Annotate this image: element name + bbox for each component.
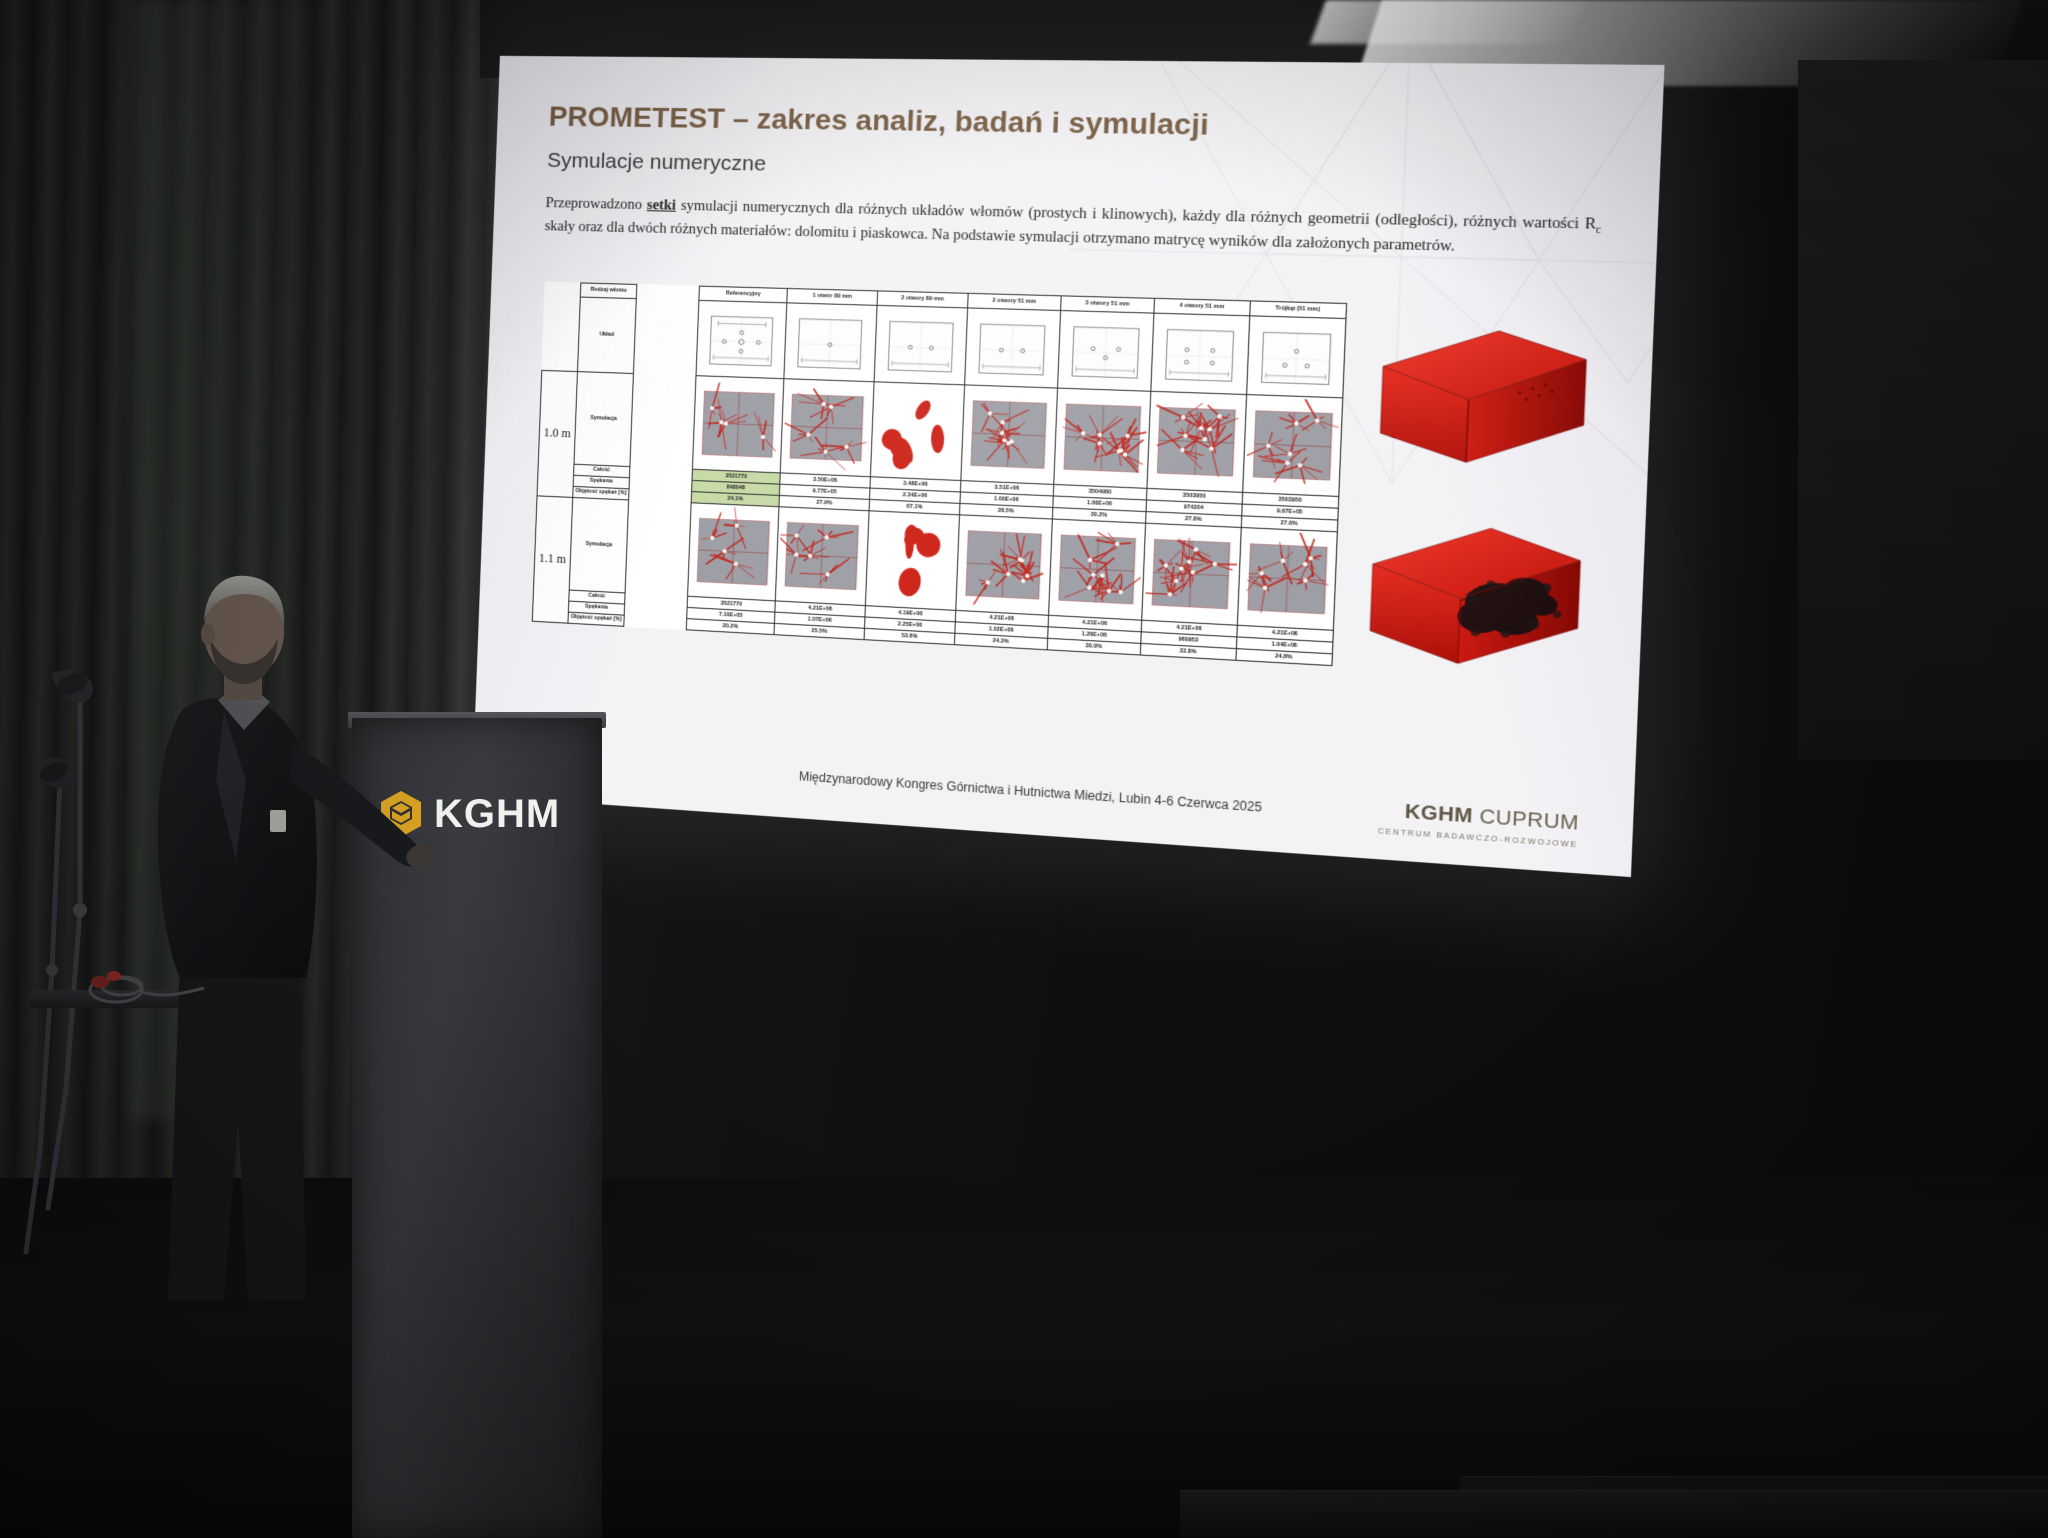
kghm-cuprum-logo: KGHM CUPRUM CENTRUM BADAWCZO-ROZWOJOWE: [1378, 799, 1580, 849]
borehole-sketch-4: [1057, 311, 1154, 392]
block-render-fractured: [1359, 514, 1591, 694]
sim-row-spacer-1: [625, 500, 691, 596]
simulation-results-table: Rodzaj włomuReferencyjny1 otwór 89 mm2 o…: [532, 281, 1347, 666]
simulation-image-0-2: [870, 382, 965, 481]
sim-row-spacer-0: [630, 374, 696, 470]
sim-row-label-1: Symulacja: [569, 497, 628, 593]
header-corner-empty: [545, 282, 581, 297]
sketch-row-corner: [542, 296, 581, 372]
paragraph-part-1: Przeprowadzono: [545, 195, 647, 213]
slide-paragraph: Przeprowadzono setki symulacji numeryczn…: [544, 193, 1601, 261]
logo-kghm-word: KGHM: [1404, 801, 1473, 828]
simulation-image-1-4: [1048, 519, 1145, 620]
slide-subtitle: Symulacje numeryczne: [547, 149, 767, 177]
cable-coil: [70, 958, 220, 1018]
borehole-sketch-5: [1151, 313, 1249, 394]
sketch-row-spacer: [633, 299, 698, 376]
paragraph-emphasis: setki: [647, 197, 677, 214]
borehole-sketch-0: [696, 300, 787, 378]
metric-spacer: [624, 615, 687, 630]
depth-label-0: 1.0 m: [537, 370, 577, 497]
block-render-solid: [1369, 321, 1594, 491]
simulation-image-0-4: [1053, 388, 1151, 488]
screenshot-root: PROMETEST – zakres analiz, badań i symul…: [0, 0, 2048, 1538]
simulation-image-1-0: [688, 503, 780, 601]
simulation-image-0-1: [781, 379, 874, 477]
simulation-image-1-5: [1142, 523, 1241, 625]
results-matrix: Rodzaj włomuReferencyjny1 otwór 89 mm2 o…: [532, 281, 1347, 666]
borehole-sketch-1: [784, 303, 877, 382]
sim-row-label-0: Symulacja: [574, 372, 633, 467]
header-corner-label: Rodzaj włomu: [580, 283, 637, 299]
simulation-image-0-6: [1242, 395, 1343, 497]
row-label-uklad: Układ: [577, 297, 636, 373]
simulation-image-0-5: [1147, 391, 1246, 492]
simulation-image-1-2: [865, 511, 960, 611]
borehole-sketch-3: [965, 308, 1060, 388]
simulation-image-1-3: [956, 515, 1052, 615]
slide-footer-event: Międzynarodowy Kongres Górnictwa i Hutni…: [799, 769, 1263, 815]
logo-cuprum-word: CUPRUM: [1472, 805, 1579, 835]
ceiling-light-panel-secondary: [1310, 0, 1586, 44]
simulation-image-1-6: [1237, 527, 1338, 630]
simulation-image-1-1: [776, 507, 869, 606]
projection-screen: PROMETEST – zakres analiz, badań i symul…: [472, 56, 1664, 877]
slide-title: PROMETEST – zakres analiz, badań i symul…: [548, 100, 1209, 142]
metric-label-1-2: Objętość spękań [%]: [568, 612, 624, 626]
floor-edge-strip-secondary: [1460, 1476, 2048, 1490]
simulation-image-0-3: [961, 385, 1057, 485]
paragraph-subscript: c: [1596, 224, 1602, 236]
simulation-image-0-0: [692, 376, 784, 473]
depth-label-1: 1.1 m: [532, 496, 572, 623]
borehole-sketch-6: [1246, 316, 1346, 398]
presenter-speaker: [120, 560, 460, 1300]
borehole-sketch-2: [874, 305, 968, 385]
floor-edge-strip: [1180, 1490, 2048, 1538]
right-wall: [1798, 60, 2048, 760]
